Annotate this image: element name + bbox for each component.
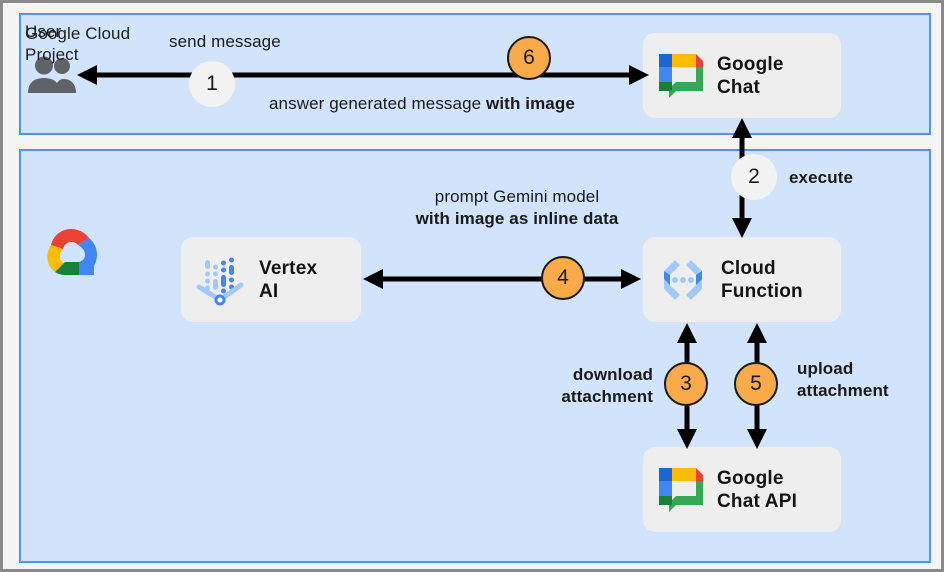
edge-label-answer-message: answer generated message with image (269, 93, 575, 115)
step-badge-5: 5 (734, 362, 778, 406)
edge-label-prompt-regular: prompt Gemini model (435, 187, 599, 206)
node-label: Vertex AI (259, 257, 317, 303)
connector-vertex-cloud-function (363, 265, 641, 293)
node-label: Google Chat API (717, 467, 797, 513)
google-chat-logo-icon (655, 50, 707, 102)
edge-label-execute: execute (789, 167, 853, 189)
step-badge-1: 1 (189, 61, 235, 107)
edge-label-answer-bold: with image (486, 94, 575, 113)
step-badge-2: 2 (731, 154, 777, 200)
step-badge-4: 4 (541, 256, 585, 300)
cloud-function-logo-icon (655, 252, 711, 308)
edge-label-prompt-bold: with image as inline data (416, 209, 619, 228)
step-badge-3: 3 (664, 362, 708, 406)
edge-label-upload-attachment: upload attachment (797, 358, 933, 402)
gcp-panel-title: Google Cloud Project (25, 23, 130, 65)
node-cloud-function[interactable]: Cloud Function (643, 237, 841, 322)
edge-label-send-message: send message (169, 31, 281, 53)
node-google-chat[interactable]: Google Chat (643, 33, 841, 118)
google-chat-logo-icon (655, 464, 707, 516)
node-label: Cloud Function (721, 257, 803, 303)
connector-user-google-chat (77, 61, 649, 89)
step-badge-6: 6 (507, 36, 551, 80)
edge-label-prompt-gemini: prompt Gemini modelwith image as inline … (415, 186, 619, 230)
edge-label-download-attachment: download attachment (481, 364, 653, 408)
node-google-chat-api[interactable]: Google Chat API (643, 447, 841, 532)
node-label: Google Chat (717, 53, 784, 99)
diagram-canvas: User Google Chat send message answer gen… (0, 0, 944, 572)
google-cloud-logo-icon (39, 225, 103, 281)
edge-label-answer-regular: answer generated message (269, 94, 486, 113)
vertex-ai-logo-icon (193, 252, 249, 308)
node-vertex-ai[interactable]: Vertex AI (181, 237, 361, 322)
